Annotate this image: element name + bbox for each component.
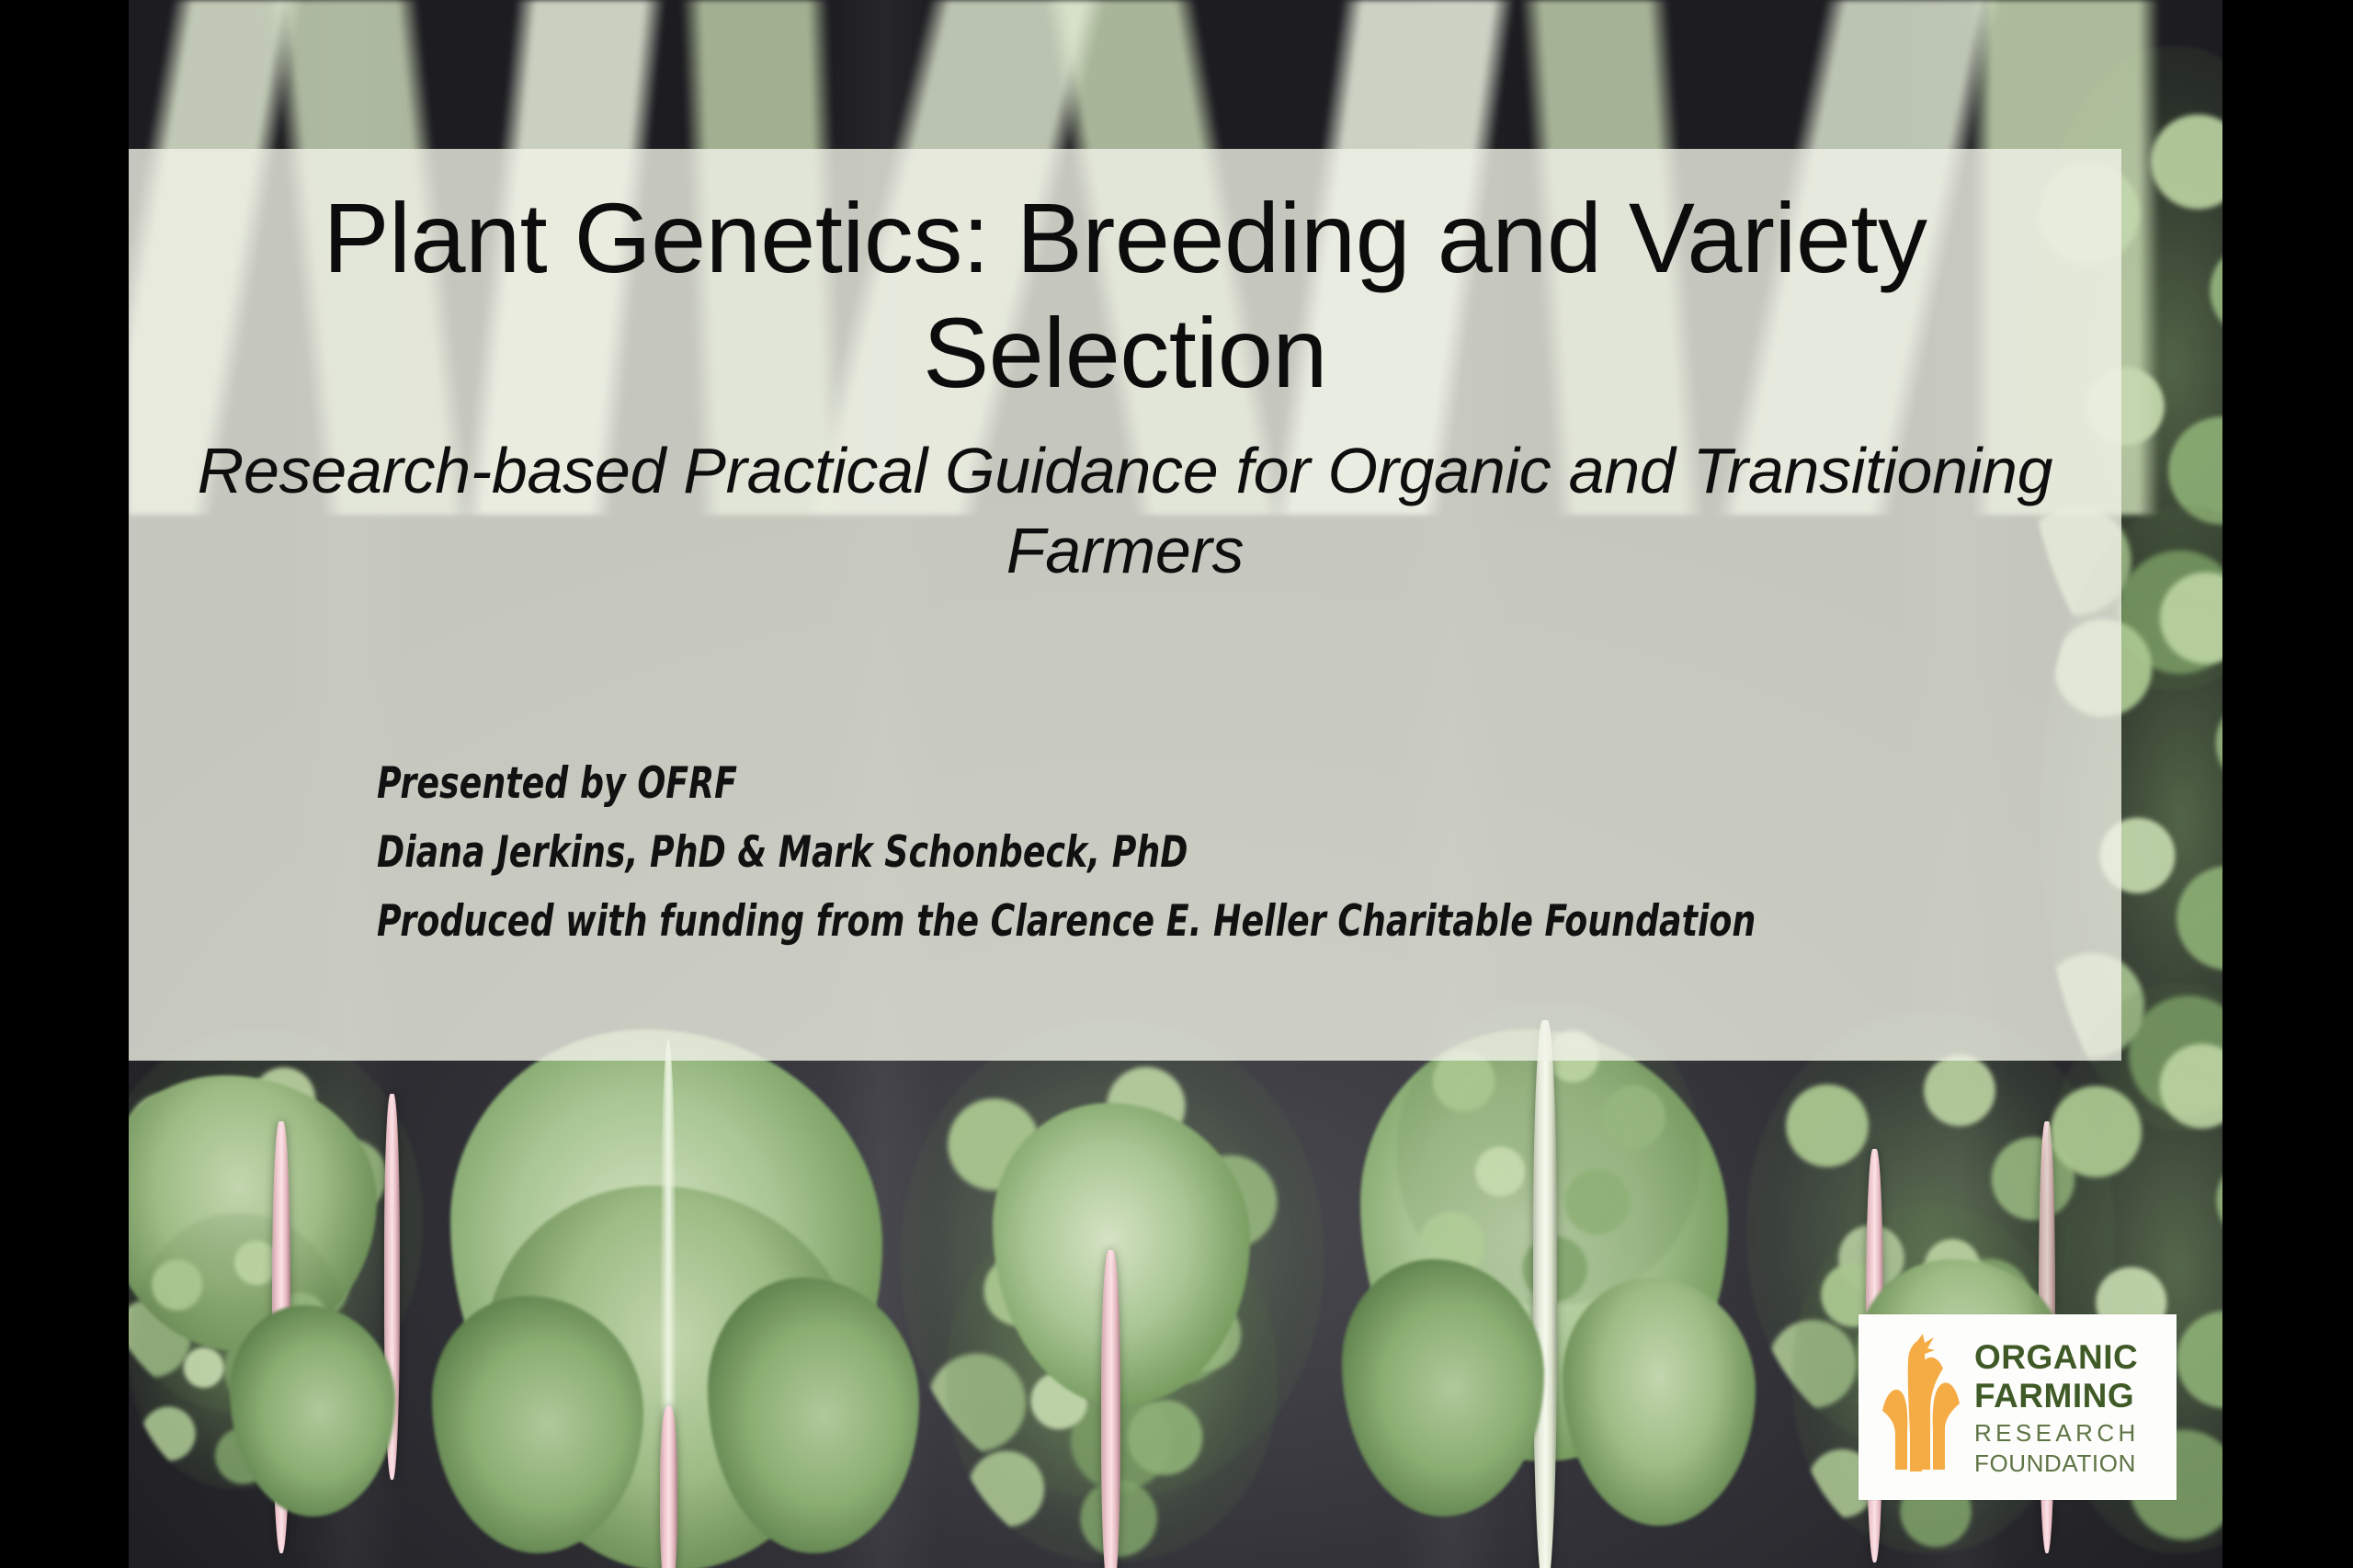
slide-subtitle: Research-based Practical Guidance for Or… [184,431,2066,592]
credit-presenter: Presented by OFRF [377,756,1830,812]
credits-block: Presented by OFRF Diana Jerkins, PhD & M… [377,756,2066,962]
corn-plant-icon [1877,1332,1965,1483]
ofrf-wordmark: ORGANIC FARMING RESEARCH FOUNDATION [1974,1340,2140,1475]
title-block: Plant Genetics: Breeding and Variety Sel… [129,180,2121,592]
title-overlay-panel: Plant Genetics: Breeding and Variety Sel… [129,149,2121,1061]
logo-line-research: RESEARCH [1974,1421,2140,1445]
page-title: Plant Genetics: Breeding and Variety Sel… [184,180,2066,411]
slide-frame: Plant Genetics: Breeding and Variety Sel… [0,0,2353,1568]
ofrf-logo: ORGANIC FARMING RESEARCH FOUNDATION [1859,1314,2177,1500]
logo-line-organic: ORGANIC [1974,1340,2140,1374]
logo-line-farming: FARMING [1974,1379,2140,1413]
credit-funding: Produced with funding from the Clarence … [377,893,1830,950]
credit-authors: Diana Jerkins, PhD & Mark Schonbeck, PhD [377,824,1830,881]
logo-line-foundation: FOUNDATION [1974,1451,2140,1475]
